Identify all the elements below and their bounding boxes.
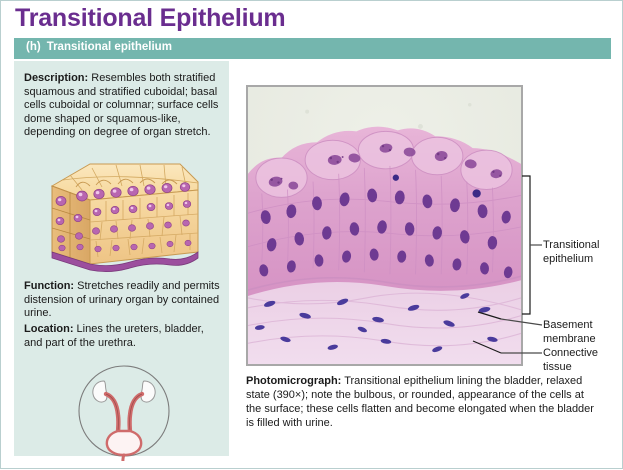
location-block: Location: Lines the ureters, bladder, an… bbox=[24, 323, 220, 350]
figure-container: Transitional Epithelium (h)Transitional … bbox=[0, 0, 623, 469]
caption-label: Photomicrograph: bbox=[246, 375, 341, 387]
label-transitional-epithelium-line1: Transitional bbox=[543, 239, 599, 251]
label-connective-tissue: Connective tissue bbox=[543, 347, 623, 374]
label-basement-membrane: Basement membrane bbox=[543, 319, 623, 346]
page-title: Transitional Epithelium bbox=[15, 4, 285, 33]
description-label: Description: bbox=[24, 72, 88, 84]
label-basement-membrane-line2: membrane bbox=[543, 333, 596, 345]
section-header-bar: (h)Transitional epithelium bbox=[14, 38, 611, 59]
function-block: Function: Stretches readily and permits … bbox=[24, 280, 220, 321]
urinary-system-icon bbox=[70, 361, 178, 461]
section-title: Transitional epithelium bbox=[47, 41, 172, 53]
label-connective-tissue-line2: tissue bbox=[543, 361, 572, 373]
photomicrograph-caption: Photomicrograph: Transitional epithelium… bbox=[246, 374, 601, 430]
description-panel: Description: Resembles both stratified s… bbox=[14, 61, 229, 456]
label-transitional-epithelium: Transitional epithelium bbox=[543, 239, 623, 266]
label-basement-membrane-line1: Basement bbox=[543, 319, 593, 331]
label-connective-tissue-line1: Connective bbox=[543, 347, 598, 359]
section-header-label: (h)Transitional epithelium bbox=[26, 41, 172, 53]
function-label: Function: bbox=[24, 280, 74, 292]
description-block: Description: Resembles both stratified s… bbox=[24, 72, 220, 140]
transitional-epithelium-photomicrograph bbox=[246, 85, 523, 366]
label-transitional-epithelium-line2: epithelium bbox=[543, 253, 593, 265]
section-letter: (h) bbox=[26, 41, 41, 53]
location-label: Location: bbox=[24, 323, 74, 335]
transitional-epithelium-block-diagram bbox=[30, 156, 210, 278]
